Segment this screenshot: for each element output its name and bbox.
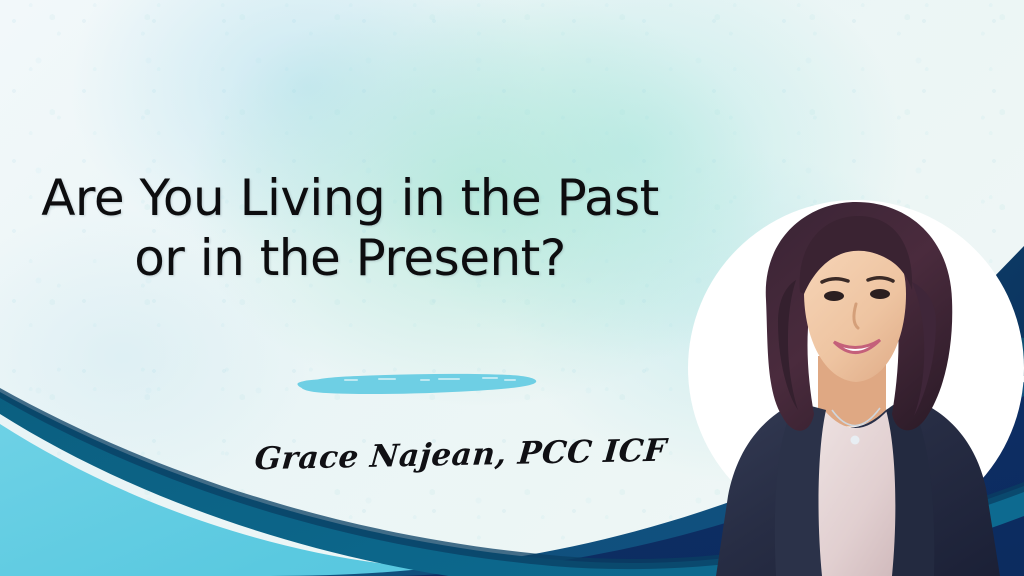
portrait-necklace-pendant — [851, 436, 860, 445]
brush-stroke-shape — [301, 374, 536, 394]
slide-canvas: Are You Living in the Past or in the Pre… — [0, 0, 1024, 576]
portrait-eye-right — [870, 289, 890, 299]
signature-text: Grace Najean, PCC ICF — [253, 434, 567, 478]
portrait-eye-left — [824, 291, 844, 301]
slide-title: Are You Living in the Past or in the Pre… — [0, 168, 700, 288]
brush-stroke-accent — [296, 368, 540, 402]
slide-title-line-2: or in the Present? — [0, 228, 700, 288]
slide-title-line-1: Are You Living in the Past — [0, 168, 700, 228]
portrait-blouse — [817, 410, 898, 576]
portrait-photo — [700, 196, 1024, 576]
